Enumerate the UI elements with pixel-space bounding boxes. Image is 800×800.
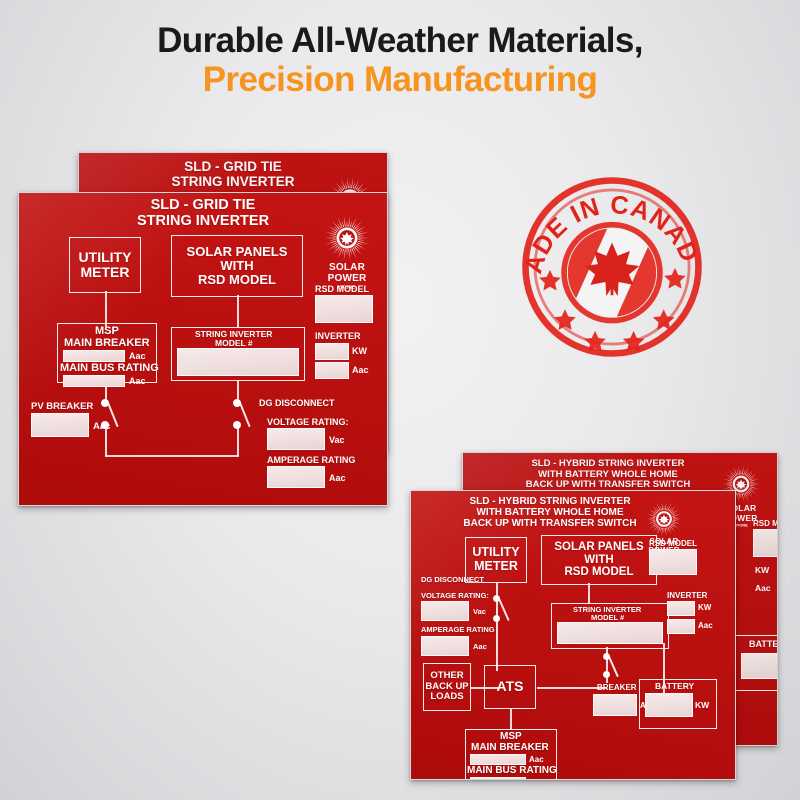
field-amperage-rating[interactable] xyxy=(421,636,469,656)
hy-back-unit-kw: KW xyxy=(755,565,769,575)
placard-hybrid-front[interactable]: SLD - HYBRID STRING INVERTER WITH BATTER… xyxy=(410,490,736,780)
label-main-bus-rating: MAIN BUS RATING xyxy=(60,362,159,374)
wire-bottom-bus xyxy=(105,455,239,457)
field-pv-breaker[interactable] xyxy=(31,413,89,437)
label-rsd-model: RSD MODEL xyxy=(649,539,697,548)
node-solar-panels[interactable]: SOLAR PANELS WITH RSD MODEL xyxy=(171,235,303,297)
node-solar-panels-line-1: SOLAR PANELS xyxy=(554,541,643,554)
unit-msp-main-bus-rating: Aac xyxy=(129,376,146,386)
unit-msp-main-bus-rating: Aac xyxy=(529,778,544,780)
title-line-2: WITH BATTERY WHOLE HOME xyxy=(538,469,678,480)
unit-inverter-kw: KW xyxy=(698,603,711,612)
field-amperage-rating[interactable] xyxy=(267,466,325,488)
node-utility-meter-line-2: METER xyxy=(81,265,130,280)
node-utility-meter-line-1: UTILITY xyxy=(472,546,519,560)
hy-back-field-rsd-model[interactable] xyxy=(753,529,778,557)
sunburst-icon xyxy=(324,215,370,261)
field-rsd-model[interactable] xyxy=(649,549,697,575)
node-utility-meter[interactable]: UTILITY METER xyxy=(69,237,141,293)
label-voltage-rating: VOLTAGE RATING: xyxy=(267,417,349,427)
node-solar-panels-line-2: WITH xyxy=(220,259,253,273)
unit-msp-main-breaker: Aac xyxy=(529,755,544,764)
dg-dot-bottom xyxy=(493,615,500,622)
hy-back-label-battery: BATTERY xyxy=(749,639,778,649)
placard-hybrid-back-title: SLD - HYBRID STRING INVERTER WITH BATTER… xyxy=(483,459,733,491)
title-line-1: SLD - HYBRID STRING INVERTER xyxy=(469,496,630,507)
field-battery[interactable] xyxy=(645,693,693,717)
wire-meter-to-msp xyxy=(105,291,107,327)
title-line-1: SLD - GRID TIE xyxy=(151,197,256,213)
label-inverter: INVERTER xyxy=(667,591,707,600)
unit-amperage-rating: Aac xyxy=(329,473,346,483)
breaker-dot-bottom-right xyxy=(233,421,241,429)
node-other-loads-line-3: LOADS xyxy=(430,692,463,702)
field-inverter-aac[interactable] xyxy=(315,362,349,379)
node-ats[interactable]: ATS xyxy=(484,665,536,709)
field-string-inverter-model[interactable] xyxy=(557,622,663,644)
logo-line-1: SOLAR xyxy=(315,262,379,273)
label-amperage-rating: AMPERAGE RATING xyxy=(421,625,495,634)
node-solar-panels[interactable]: SOLAR PANELS WITH RSD MODEL xyxy=(541,535,657,585)
headline-line-2: Precision Manufacturing xyxy=(0,61,800,98)
label-string-inverter-model: MODEL # xyxy=(215,338,253,348)
field-inverter-kw[interactable] xyxy=(315,343,349,360)
field-rsd-model[interactable] xyxy=(315,295,373,323)
label-voltage-rating: VOLTAGE RATING: xyxy=(421,591,489,600)
title-line-1: SLD - GRID TIE xyxy=(184,159,282,174)
title-line-3: BACK UP WITH TRANSFER SWITCH xyxy=(463,518,636,529)
title-line-1: SLD - HYBRID STRING INVERTER xyxy=(531,458,684,469)
label-dg-disconnect: DG DISCONNECT xyxy=(259,398,335,408)
hy-back-field-battery[interactable] xyxy=(741,653,778,679)
wire-ats-to-msp xyxy=(510,709,512,729)
page-headline: Durable All-Weather Materials, Precision… xyxy=(0,22,800,98)
unit-inverter-aac: Aac xyxy=(698,621,713,630)
label-inverter: INVERTER xyxy=(315,331,361,341)
headline-line-1: Durable All-Weather Materials, xyxy=(0,22,800,59)
unit-amperage-rating: Aac xyxy=(473,642,487,651)
made-in-canada-stamp: MADE IN CANADA xyxy=(518,172,706,362)
field-voltage-rating[interactable] xyxy=(421,601,469,621)
field-voltage-rating[interactable] xyxy=(267,428,325,450)
hy-back-label-rsd-model: RSD MODEL xyxy=(753,519,778,528)
label-main-bus-rating: MAIN BUS RATING xyxy=(467,765,557,776)
title-line-2: WITH BATTERY WHOLE HOME xyxy=(476,507,623,518)
label-msp: MSP xyxy=(500,731,522,742)
unit-inverter-aac: Aac xyxy=(352,365,369,375)
inv-dot-bottom xyxy=(603,671,610,678)
unit-voltage-rating: Vac xyxy=(329,435,345,445)
placard-grid-tie-front[interactable]: SLD - GRID TIE STRING INVERTER SOLAR POW… xyxy=(18,192,388,506)
title-line-2: STRING INVERTER xyxy=(171,174,294,189)
title-line-3: BACK UP WITH TRANSFER SWITCH xyxy=(526,479,690,490)
label-pv-breaker: PV BREAKER xyxy=(31,401,93,412)
field-inverter-aac[interactable] xyxy=(667,619,695,634)
label-dg-disconnect: DG DISCONNECT xyxy=(421,575,484,584)
unit-msp-main-breaker: Aac xyxy=(129,351,146,361)
label-battery: BATTERY xyxy=(655,681,694,691)
node-other-backup-loads[interactable]: OTHER BACK UP LOADS xyxy=(423,663,471,711)
node-utility-meter-line-1: UTILITY xyxy=(79,250,132,265)
sunburst-icon xyxy=(646,501,682,537)
label-main-breaker: MAIN BREAKER xyxy=(471,742,549,753)
node-utility-meter-line-2: METER xyxy=(474,560,518,574)
logo-line-2: POWER xyxy=(315,273,379,284)
label-rsd-model: RSD MODEL xyxy=(315,284,369,294)
field-msp-main-breaker[interactable] xyxy=(63,350,125,362)
node-solar-panels-line-2: WITH xyxy=(584,554,613,567)
wire-panels-to-inverter xyxy=(237,295,239,327)
wire-bottom-right-riser xyxy=(237,425,239,456)
unit-inverter-kw: KW xyxy=(352,346,367,356)
title-line-2: STRING INVERTER xyxy=(137,213,269,229)
label-amperage-rating: AMPERAGE RATING xyxy=(267,455,355,465)
field-msp-main-bus-rating[interactable] xyxy=(63,375,125,387)
field-inverter-kw[interactable] xyxy=(667,601,695,616)
node-solar-panels-line-3: RSD MODEL xyxy=(198,273,276,287)
node-solar-panels-line-1: SOLAR PANELS xyxy=(187,245,288,259)
label-msp: MSP xyxy=(95,325,119,337)
solar-power-store-logo: SOLAR POWER STORE xyxy=(315,215,379,291)
hy-back-unit-aac: Aac xyxy=(755,583,771,593)
field-msp-main-bus-rating[interactable] xyxy=(470,777,526,780)
field-string-inverter-model[interactable] xyxy=(177,348,299,376)
field-breaker[interactable] xyxy=(593,694,637,716)
node-ats-label: ATS xyxy=(497,679,524,694)
field-msp-main-breaker[interactable] xyxy=(470,754,526,765)
node-solar-panels-line-3: RSD MODEL xyxy=(565,566,634,579)
label-string-inverter-model: MODEL # xyxy=(591,613,624,622)
label-main-breaker: MAIN BREAKER xyxy=(64,337,150,349)
unit-pv-breaker: Aac xyxy=(93,421,110,432)
wire-panels-to-inverter xyxy=(588,583,590,603)
label-breaker: BREAKER xyxy=(597,683,637,692)
unit-battery-kw: KW xyxy=(695,700,709,710)
unit-voltage-rating: Vac xyxy=(473,607,486,616)
